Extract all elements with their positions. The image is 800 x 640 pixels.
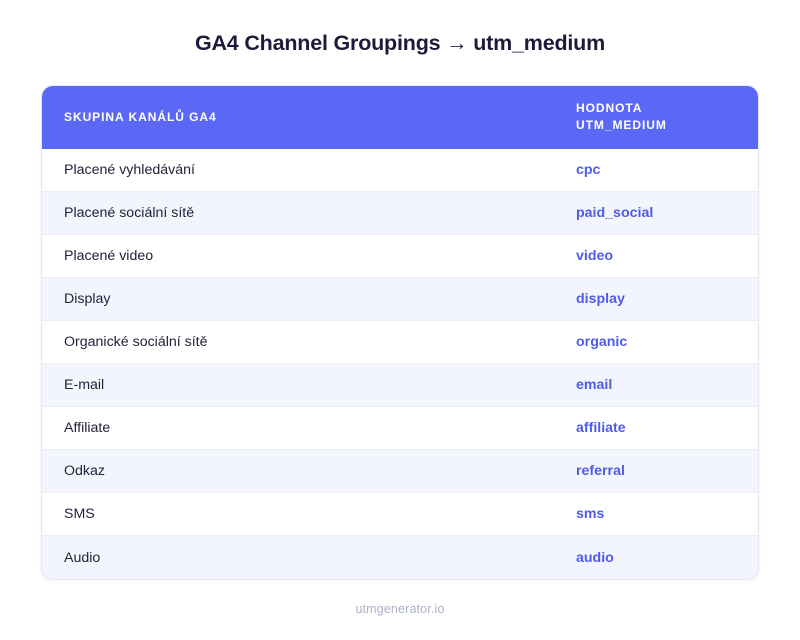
table-header: SKUPINA KANÁLŮ GA4 HODNOTA UTM_MEDIUM [42, 86, 758, 149]
footer-brand: utmgenerator.io [355, 602, 444, 616]
table-row: Placené videovideo [42, 235, 758, 278]
cell-utm-medium-value: paid_social [576, 192, 758, 235]
cell-channel-group: Placené sociální sítě [42, 192, 576, 235]
cell-utm-medium-value: referral [576, 450, 758, 493]
table-row: Odkazreferral [42, 450, 758, 493]
cell-channel-group: Audio [42, 536, 576, 579]
cell-channel-group: Organické sociální sítě [42, 321, 576, 364]
table-row: Placené sociální sítěpaid_social [42, 192, 758, 235]
cell-channel-group: E-mail [42, 364, 576, 407]
table-header-row: SKUPINA KANÁLŮ GA4 HODNOTA UTM_MEDIUM [42, 86, 758, 149]
page-root: GA4 Channel Groupings → utm_medium SKUPI… [0, 0, 800, 640]
channel-mapping-table: SKUPINA KANÁLŮ GA4 HODNOTA UTM_MEDIUM Pl… [42, 86, 758, 579]
channel-mapping-card: SKUPINA KANÁLŮ GA4 HODNOTA UTM_MEDIUM Pl… [41, 85, 759, 580]
cell-channel-group: Placené video [42, 235, 576, 278]
cell-utm-medium-value: cpc [576, 149, 758, 192]
table-row: Audioaudio [42, 536, 758, 579]
cell-utm-medium-value: video [576, 235, 758, 278]
table-row: Displaydisplay [42, 278, 758, 321]
cell-utm-medium-value: display [576, 278, 758, 321]
cell-channel-group: Display [42, 278, 576, 321]
cell-utm-medium-value: affiliate [576, 407, 758, 450]
cell-channel-group: Placené vyhledávání [42, 149, 576, 192]
page-title: GA4 Channel Groupings → utm_medium [195, 0, 605, 57]
table-row: SMSsms [42, 493, 758, 536]
table-row: Placené vyhledávánícpc [42, 149, 758, 192]
cell-utm-medium-value: email [576, 364, 758, 407]
column-header-utm-medium: HODNOTA UTM_MEDIUM [576, 86, 758, 149]
cell-channel-group: SMS [42, 493, 576, 536]
cell-utm-medium-value: sms [576, 493, 758, 536]
column-header-channel-group: SKUPINA KANÁLŮ GA4 [42, 86, 576, 149]
table-row: Affiliateaffiliate [42, 407, 758, 450]
cell-channel-group: Affiliate [42, 407, 576, 450]
cell-utm-medium-value: organic [576, 321, 758, 364]
table-row: Organické sociální sítěorganic [42, 321, 758, 364]
cell-channel-group: Odkaz [42, 450, 576, 493]
cell-utm-medium-value: audio [576, 536, 758, 579]
table-body: Placené vyhledávánícpcPlacené sociální s… [42, 149, 758, 579]
column-header-utm-medium-line2: UTM_MEDIUM [576, 117, 758, 134]
table-row: E-mailemail [42, 364, 758, 407]
column-header-utm-medium-line1: HODNOTA [576, 100, 758, 117]
column-header-channel-group-label: SKUPINA KANÁLŮ GA4 [64, 109, 576, 126]
